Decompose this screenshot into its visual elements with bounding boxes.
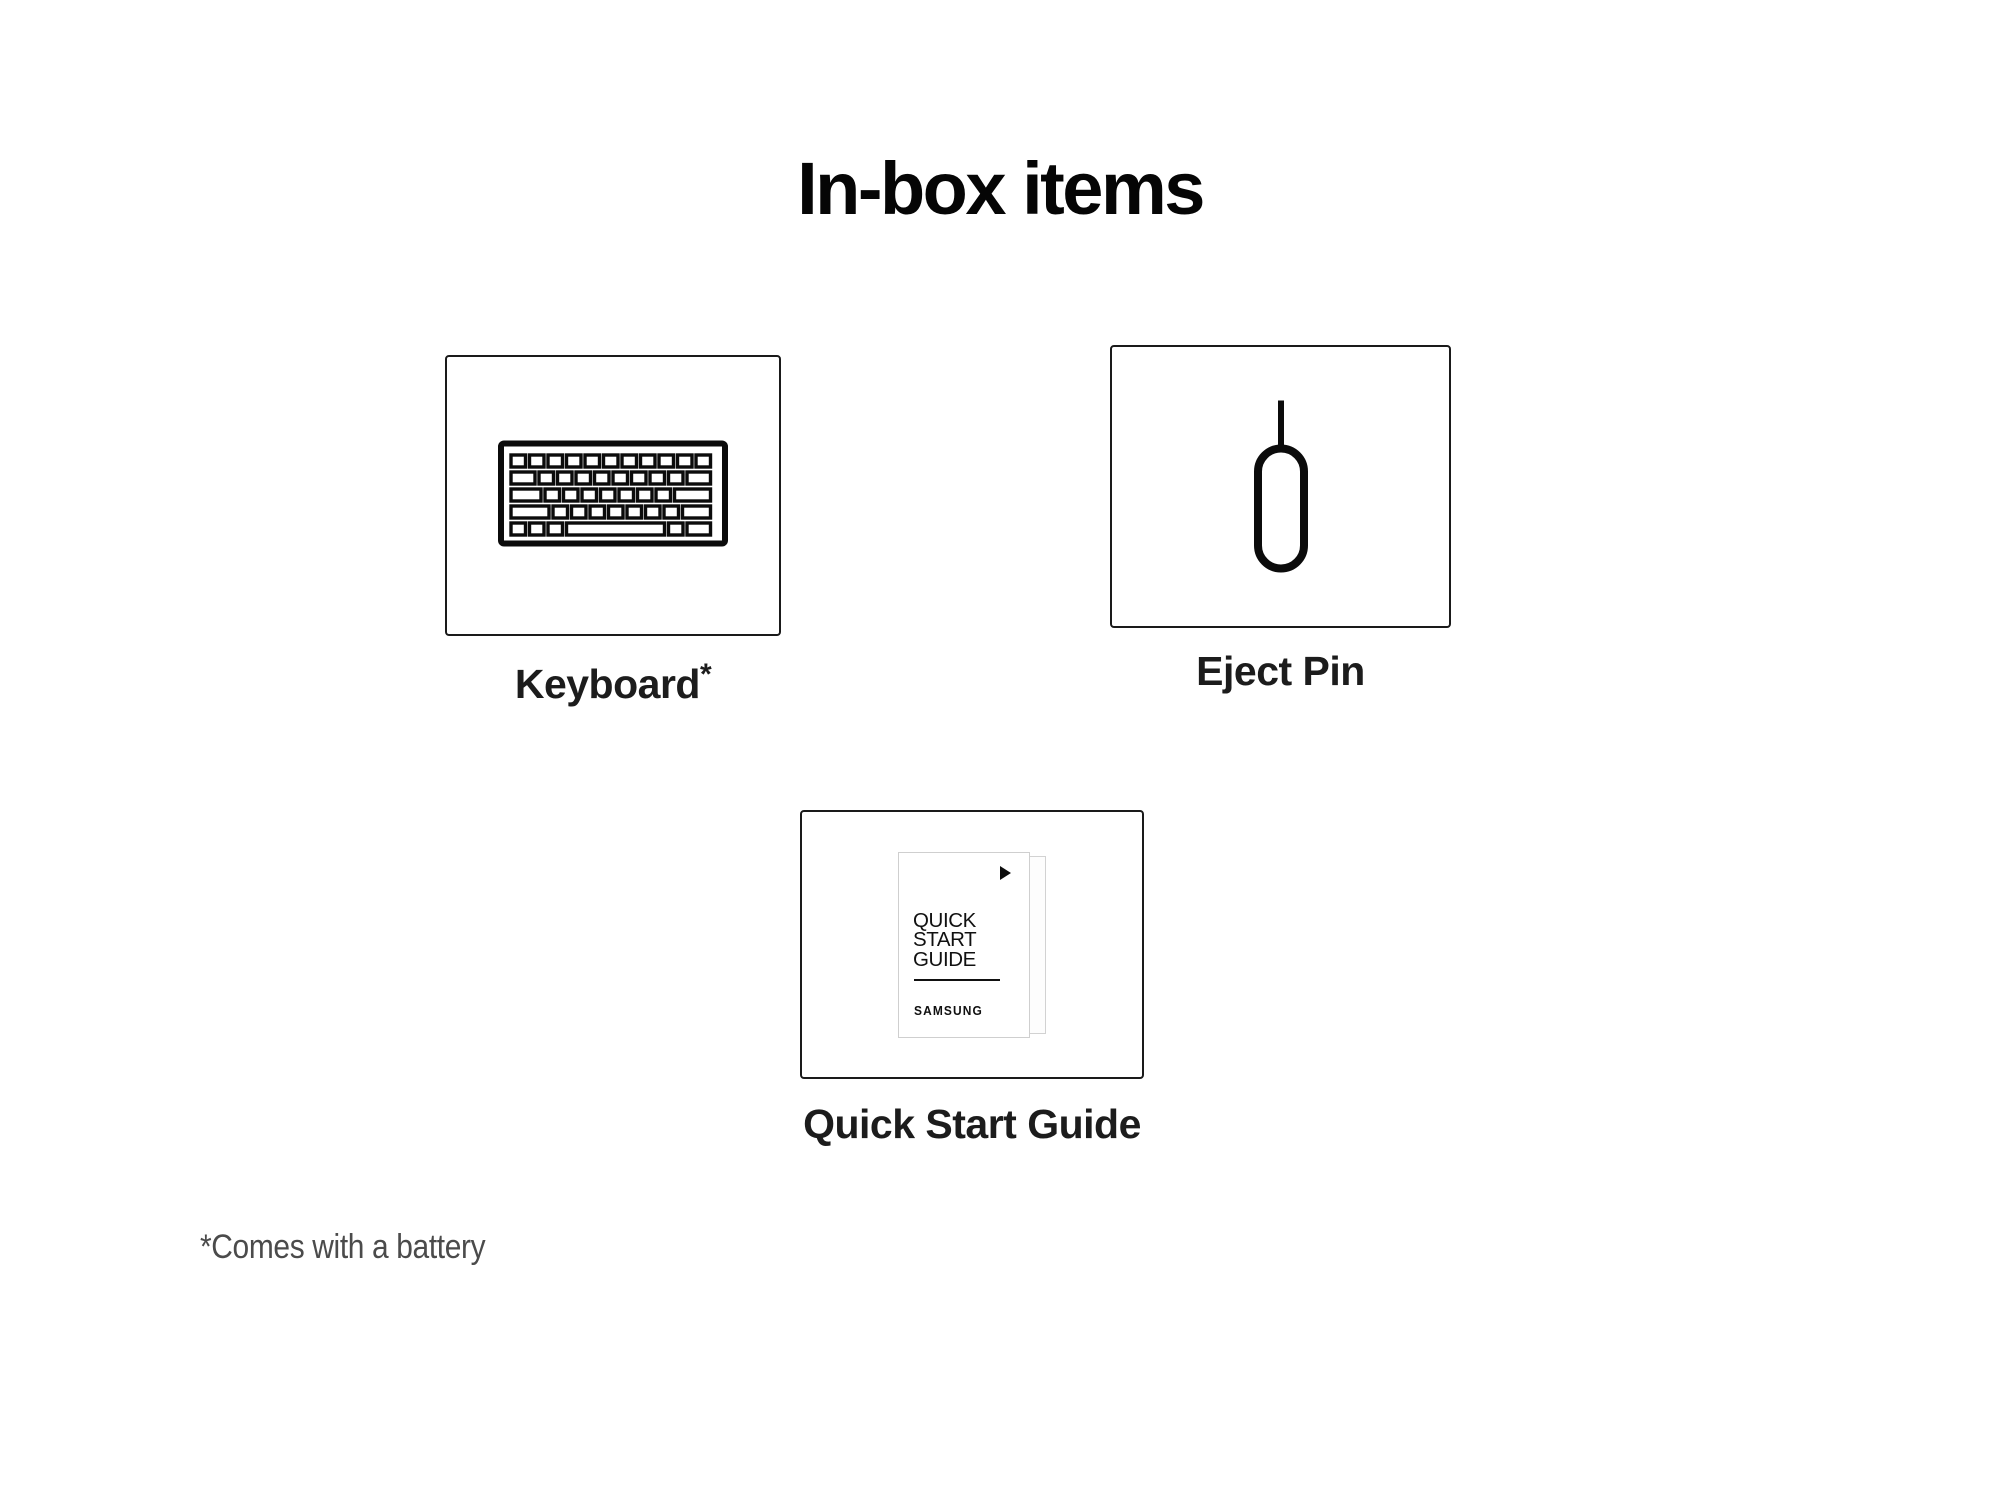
eject-pin-label: Eject Pin bbox=[1110, 648, 1451, 695]
eject-pin-card bbox=[1110, 345, 1451, 628]
play-triangle-icon bbox=[1000, 866, 1011, 880]
eject-pin-icon bbox=[1249, 396, 1313, 577]
booklet-title-line-1: QUICK bbox=[913, 911, 976, 931]
page-title: In-box items bbox=[0, 150, 2000, 228]
keyboard-icon bbox=[498, 440, 728, 551]
keyboard-label-asterisk: * bbox=[700, 658, 711, 691]
footnote-battery-note: *Comes with a battery bbox=[200, 1228, 485, 1267]
keyboard-card bbox=[445, 355, 781, 636]
quick-start-guide-card: QUICK START GUIDE SAMSUNG bbox=[800, 810, 1144, 1079]
inbox-item-keyboard: Keyboard* bbox=[445, 355, 781, 708]
quick-start-guide-label: Quick Start Guide bbox=[800, 1101, 1144, 1148]
booklet-divider bbox=[914, 979, 1000, 981]
samsung-wordmark: SAMSUNG bbox=[914, 1003, 983, 1018]
inbox-item-quick-start-guide: QUICK START GUIDE SAMSUNG Quick Start Gu… bbox=[800, 810, 1144, 1148]
eject-pin-label-text: Eject Pin bbox=[1196, 648, 1365, 694]
quick-start-guide-label-text: Quick Start Guide bbox=[803, 1101, 1141, 1147]
keyboard-label-text: Keyboard bbox=[515, 661, 700, 707]
booklet-title-line-3: GUIDE bbox=[913, 950, 976, 970]
booklet-title: QUICK START GUIDE bbox=[913, 911, 976, 970]
booklet-icon: QUICK START GUIDE SAMSUNG bbox=[898, 852, 1046, 1038]
keyboard-label: Keyboard* bbox=[445, 658, 781, 708]
inbox-item-eject-pin: Eject Pin bbox=[1110, 345, 1451, 695]
booklet-front-cover: QUICK START GUIDE SAMSUNG bbox=[898, 852, 1030, 1038]
